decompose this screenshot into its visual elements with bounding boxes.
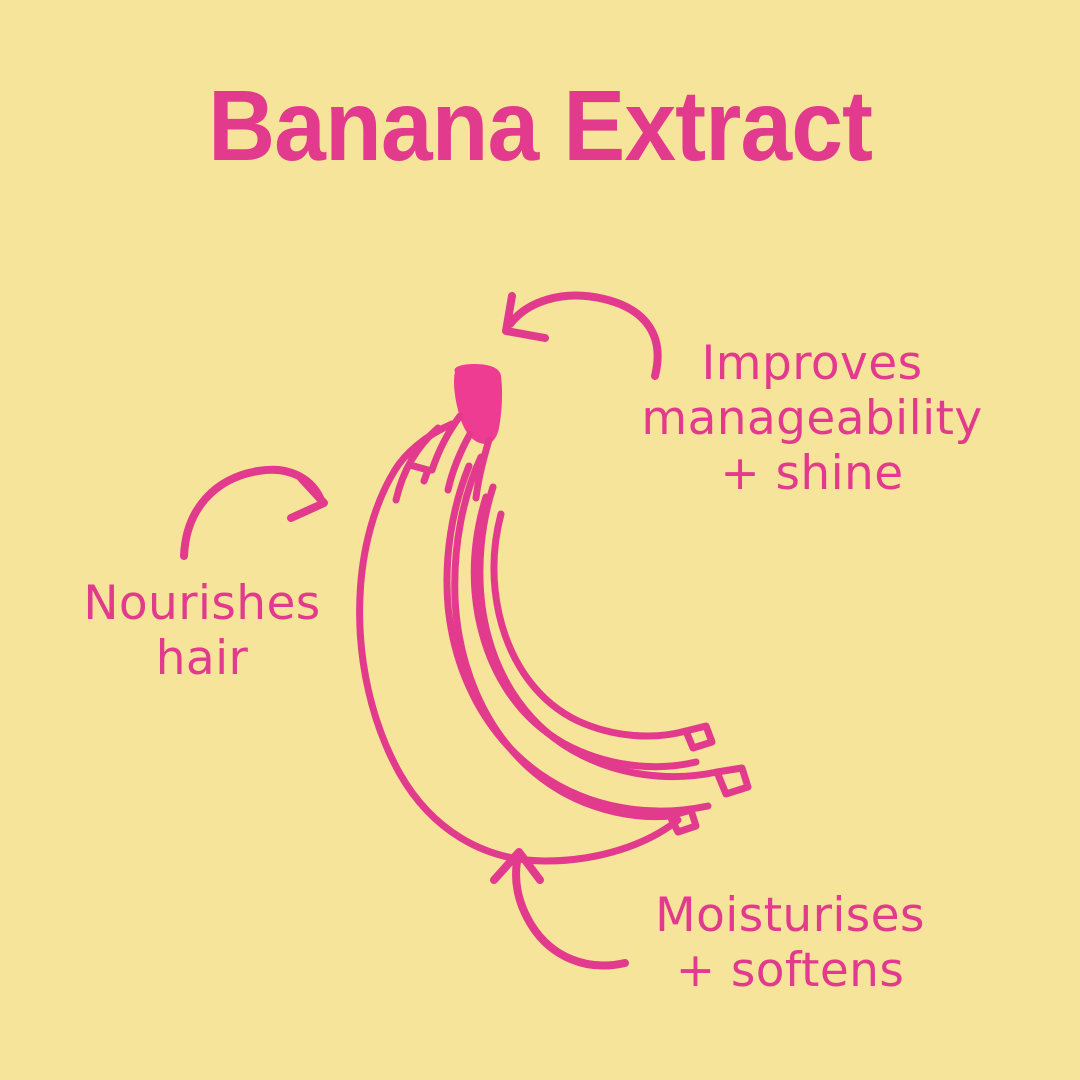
page-title: Banana Extract (38, 76, 1042, 176)
banana-2-right-edge (480, 487, 717, 777)
banana-stem (454, 364, 502, 444)
banana-neck-strand-2 (448, 434, 470, 490)
banana-extract-poster: Banana Extract (0, 0, 1080, 1080)
banana-neck-strand-3 (476, 440, 489, 498)
banana-outline-2 (447, 466, 708, 811)
callout-nourishes-hair: Nourishes hair (42, 576, 362, 686)
banana-3-right-edge (494, 514, 686, 736)
arrow-to-banana-left-icon (184, 470, 324, 556)
banana-neck-strand-1 (432, 416, 460, 470)
banana-1-tip (670, 810, 696, 832)
banana-outline-1-inner (396, 428, 438, 500)
callout-moisturises-softens: Moisturises + softens (600, 888, 980, 998)
banana-outline-3 (474, 497, 696, 767)
banana-3-tip (686, 726, 712, 748)
banana-shoulder-notch (410, 465, 428, 481)
banana-1-right-edge (455, 457, 670, 817)
callout-improves-manageability: Improves manageability + shine (612, 336, 1012, 501)
banana-2-tip (717, 768, 748, 794)
